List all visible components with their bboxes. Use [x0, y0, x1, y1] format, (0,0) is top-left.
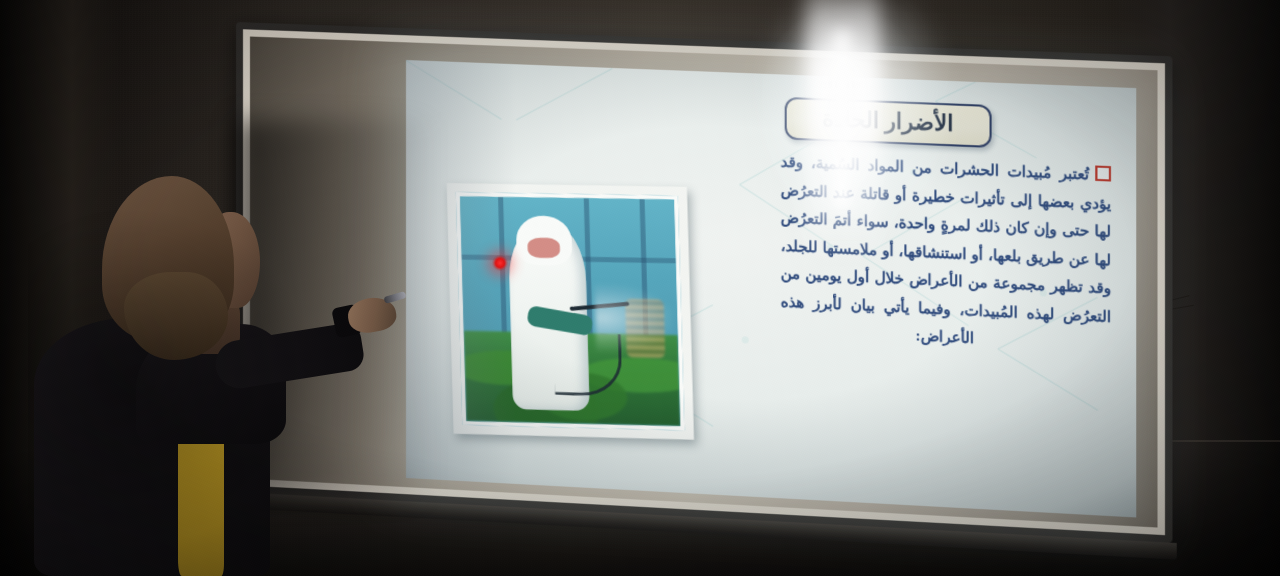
- slide-photo-frame: [447, 183, 695, 440]
- classroom-photo-scene: نظرة عامة ؟: [0, 0, 1280, 576]
- slide-content: الأضرار الحادة تُعتبر مُبيدات الحشرات من…: [406, 60, 1136, 517]
- slide-title-plate: الأضرار الحادة: [785, 97, 992, 148]
- presenter-person: [28, 176, 388, 576]
- laser-pointer-dot: [492, 255, 508, 271]
- square-bullet-icon: [1095, 165, 1111, 181]
- slide-photo-image: [456, 192, 685, 430]
- projected-slide: الأضرار الحادة تُعتبر مُبيدات الحشرات من…: [406, 60, 1136, 517]
- pesticide-spray-mist: [595, 284, 674, 353]
- slide-title-container: الأضرار الحادة: [785, 97, 992, 148]
- respirator-mask-icon: [527, 238, 560, 259]
- slide-body-paragraph: تُعتبر مُبيدات الحشرات من المواد السُمية…: [781, 149, 1111, 360]
- slide-title: الأضرار الحادة: [822, 107, 953, 137]
- slide-body-text: تُعتبر مُبيدات الحشرات من المواد السُمية…: [781, 155, 1111, 348]
